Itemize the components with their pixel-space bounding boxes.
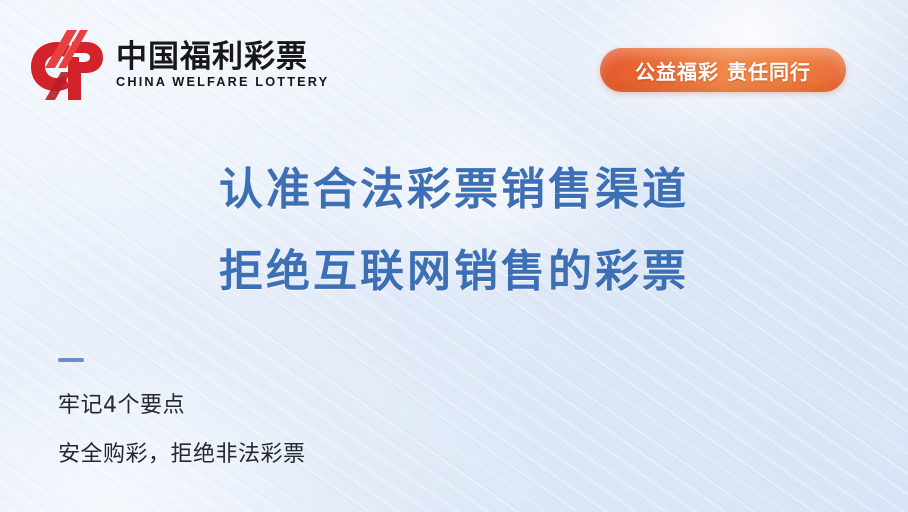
china-welfare-lottery-logo-icon <box>24 28 104 102</box>
brand-name-chinese: 中国福利彩票 <box>116 41 325 74</box>
brand-name-english: CHINA WELFARE LOTTERY <box>116 76 329 89</box>
footer-line-1: 牢记4个要点 <box>58 395 306 417</box>
footer-line-2: 安全购彩，拒绝非法彩票 <box>58 444 306 466</box>
slogan-badge: 公益福彩 责任同行 <box>600 48 846 92</box>
poster-header: 中国福利彩票 CHINA WELFARE LOTTERY 公益福彩 责任同行 <box>0 0 908 120</box>
footer-block: 牢记4个要点 安全购彩，拒绝非法彩票 <box>58 358 306 466</box>
headline-block: 认准合法彩票销售渠道 拒绝互联网销售的彩票 <box>0 168 908 294</box>
brand-logo: 中国福利彩票 CHINA WELFARE LOTTERY <box>24 28 325 102</box>
slogan-badge-text: 公益福彩 责任同行 <box>635 56 811 85</box>
brand-wordmark: 中国福利彩票 CHINA WELFARE LOTTERY <box>116 41 325 88</box>
lottery-public-service-poster: 中国福利彩票 CHINA WELFARE LOTTERY 公益福彩 责任同行 认… <box>0 0 908 512</box>
divider-dash <box>58 358 84 362</box>
headline-line-2: 拒绝互联网销售的彩票 <box>0 250 908 294</box>
headline-line-1: 认准合法彩票销售渠道 <box>0 168 908 212</box>
